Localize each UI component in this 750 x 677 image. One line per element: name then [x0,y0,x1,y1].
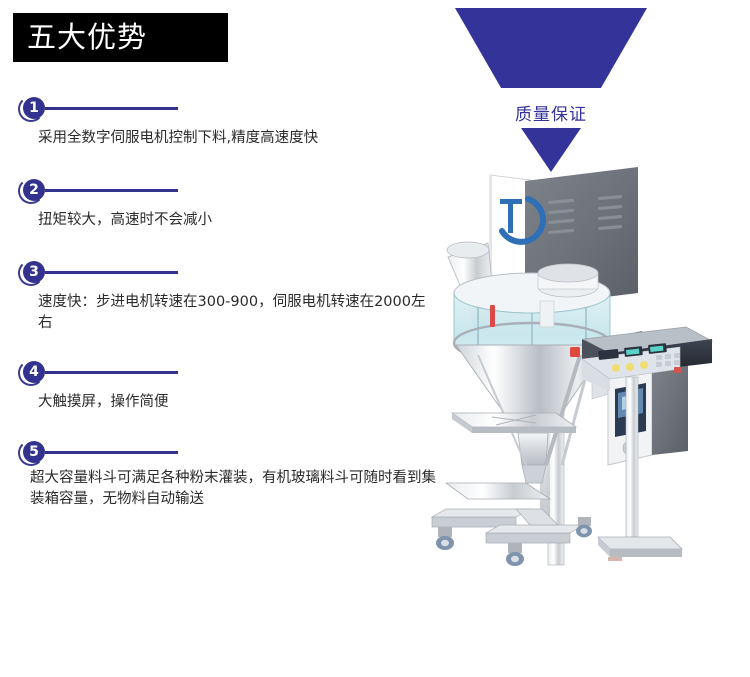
badge-number: 4 [23,361,45,383]
base-frame [432,483,592,566]
advantage-text: 扭矩较大，高速时不会减小 [38,207,438,231]
advantage-text: 大触摸屏，操作简便 [38,389,438,413]
page-title: 五大优势 [13,23,147,52]
advantage-header: 5 [18,439,440,465]
badge-number: 3 [23,261,45,283]
list-item: 1 采用全数字伺服电机控制下料,精度高速度快 [0,95,440,149]
advantage-header: 4 [18,359,440,389]
divider-rule [45,189,178,192]
advantage-header: 2 [18,177,440,207]
caster-wheel-icon [506,543,524,566]
caster-wheel-icon [436,527,454,550]
advantages-list: 1 采用全数字伺服电机控制下料,精度高速度快 2 扭矩较大，高速时不会减小 3 [0,95,440,510]
advantage-header: 1 [18,95,440,125]
number-badge-icon: 2 [18,177,46,205]
list-item: 3 速度快：步进电机转速在300-900，伺服电机转速在2000左右 [0,259,440,334]
inlet-cap [538,264,598,297]
page-title-banner: 五大优势 [13,13,228,62]
advantage-text: 速度快：步进电机转速在300-900，伺服电机转速在2000左右 [38,289,438,334]
badge-number: 2 [23,179,45,201]
list-item: 5 超大容量料斗可满足各种粉末灌装，有机玻璃料斗可随时看到集装箱容量，无物料自动… [0,439,440,510]
advantage-header: 3 [18,259,440,289]
badge-number: 1 [23,97,45,119]
work-platform [452,413,576,433]
number-badge-icon: 1 [18,95,46,123]
badge-number: 5 [23,441,45,463]
number-badge-icon: 5 [18,439,46,467]
number-badge-icon: 3 [18,259,46,287]
advantage-text: 采用全数字伺服电机控制下料,精度高速度快 [38,125,438,149]
advantages-page: 五大优势 1 采用全数字伺服电机控制下料,精度高速度快 2 扭矩较大，高速 [0,0,750,677]
advantage-text: 超大容量料斗可满足各种粉末灌装，有机玻璃料斗可随时看到集装箱容量，无物料自动输送 [30,465,438,510]
product-photo [430,165,720,625]
list-item: 2 扭矩较大，高速时不会减小 [0,177,440,231]
number-badge-icon: 4 [18,359,46,387]
caster-wheel-icon [576,517,592,537]
divider-rule [45,371,178,374]
list-item: 4 大触摸屏，操作简便 [0,359,440,413]
arrow-trapezoid-icon [455,8,647,88]
quality-arrow-graphic: 质量保证 [455,8,655,168]
divider-rule [45,451,178,454]
divider-rule [45,107,178,110]
quality-label: 质量保证 [455,100,647,125]
divider-rule [45,271,178,274]
